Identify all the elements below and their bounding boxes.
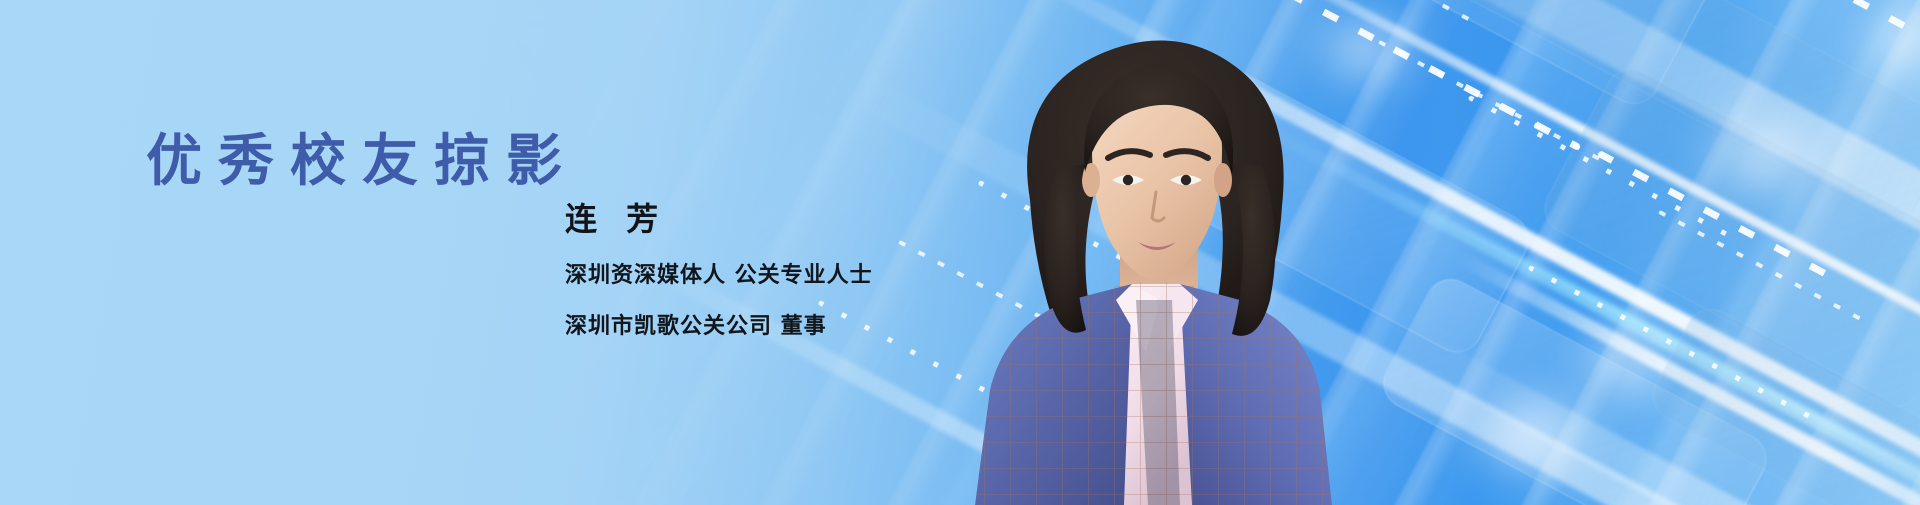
pupil-right [1181,175,1191,185]
glow-blob [1680,120,1850,190]
pupil-left [1123,175,1133,185]
page-title: 优秀校友掠影 [146,134,578,190]
glass-panel [1374,270,1775,505]
data-tick-line [1597,150,1848,288]
glass-panel [1644,300,1920,505]
glass-panel [1444,0,1920,230]
alumna-portrait [880,0,1400,505]
alumni-banner: 优秀校友掠影 连 芳 深圳资深媒体人 公关专业人士 深圳市凯歌公关公司 董事 [0,0,1920,505]
data-tick-line [1658,210,1872,326]
person-info-block: 连 芳 深圳资深媒体人 公关专业人士 深圳市凯歌公关公司 董事 [565,200,873,340]
data-tick-line [1747,0,1920,49]
light-streak [1550,0,1920,182]
person-credentials-line-1: 深圳资深媒体人 公关专业人士 [565,257,873,289]
person-name: 连 芳 [565,200,873,238]
data-tick-line [1468,95,1735,240]
ear-right [1214,163,1232,197]
data-tick-line [1378,40,1609,166]
glow-blob [1440,400,1620,470]
light-streak [1453,250,1920,505]
person-credentials-line-2: 深圳市凯歌公关公司 董事 [565,308,873,340]
glow-blob [1840,10,1920,70]
glow-blob [1560,330,1710,390]
glass-panel [1535,60,1920,416]
data-tick-line [1528,265,1813,420]
light-streak [1401,330,1920,505]
light-streak [1376,180,1920,505]
suit-check-pattern [880,260,1400,505]
